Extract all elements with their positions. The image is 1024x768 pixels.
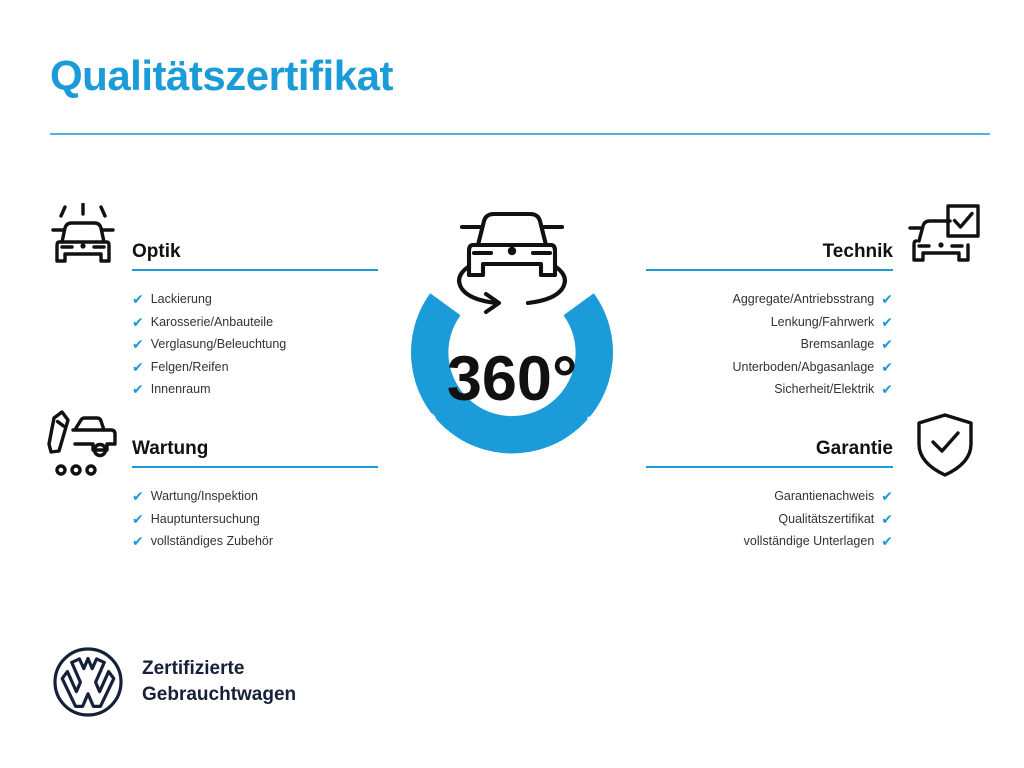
list-item: ✔Lackierung [132,288,378,311]
list-item-label: Karosserie/Anbauteile [151,311,273,334]
check-icon: ✔ [132,337,144,351]
badge-value: 360° [447,344,577,414]
list-item: ✔Innenraum [132,378,378,401]
list-item: ✔Felgen/Reifen [132,356,378,379]
page-title: Qualitätszertifikat [50,52,393,100]
checklist-optik: ✔Lackierung ✔Karosserie/Anbauteile ✔Verg… [132,288,378,401]
list-item-label: Garantienachweis [774,485,874,508]
check-icon: ✔ [132,512,144,526]
check-icon: ✔ [132,382,144,396]
section-divider [646,466,893,468]
check-icon: ✔ [132,534,144,548]
car-rotate-360-icon [459,214,565,312]
check-360-badge: 360° Gebrauchtwagen-Check [372,193,652,503]
section-header: Wartung [132,437,378,471]
list-item-label: Bremsanlage [801,333,875,356]
check-icon: ✔ [132,315,144,329]
check-icon: ✔ [132,489,144,503]
section-title-optik: Optik [132,240,378,264]
check-icon: ✔ [881,534,893,548]
list-item-label: Lackierung [151,288,212,311]
footer-line-2: Gebrauchtwagen [142,682,296,708]
list-item-label: Felgen/Reifen [151,356,229,379]
list-item: ✔Karosserie/Anbauteile [132,311,378,334]
section-optik: Optik ✔Lackierung ✔Karosserie/Anbauteile… [132,240,378,401]
section-title-technik: Technik [646,240,893,264]
list-item: vollständige Unterlagen✔ [646,530,893,553]
footer-text-block: Zertifizierte Gebrauchtwagen [142,656,296,708]
section-wartung: Wartung ✔Wartung/Inspektion ✔Hauptunters… [132,437,378,553]
list-item-label: Verglasung/Beleuchtung [151,333,287,356]
section-divider [132,269,378,271]
section-title-wartung: Wartung [132,437,378,461]
section-garantie: Garantie Garantienachweis✔ Qualitätszert… [646,437,893,553]
list-item: Sicherheit/Elektrik✔ [646,378,893,401]
check-icon: ✔ [881,489,893,503]
section-header: Technik [646,240,893,274]
footer-line-1: Zertifizierte [142,656,296,682]
check-icon: ✔ [881,512,893,526]
list-item-label: Innenraum [151,378,211,401]
list-item: ✔Verglasung/Beleuchtung [132,333,378,356]
list-item-label: Aggregate/Antriebsstrang [733,288,875,311]
section-technik: Technik Aggregate/Antriebsstrang✔ Lenkun… [646,240,893,401]
check-icon: ✔ [881,292,893,306]
check-icon: ✔ [132,360,144,374]
list-item: ✔vollständiges Zubehör [132,530,378,553]
car-shine-icon [45,203,121,273]
certificate-page: Qualitätszertifikat [0,0,1024,768]
shield-check-icon [914,412,976,478]
checklist-garantie: Garantienachweis✔ Qualitätszertifikat✔ v… [646,485,893,553]
car-checkbox-icon [906,203,982,273]
checklist-technik: Aggregate/Antriebsstrang✔ Lenkung/Fahrwe… [646,288,893,401]
list-item-label: Sicherheit/Elektrik [774,378,874,401]
list-item: Qualitätszertifikat✔ [646,508,893,531]
list-item-label: vollständige Unterlagen [744,530,875,553]
list-item-label: Lenkung/Fahrwerk [771,311,875,334]
list-item: Unterboden/Abgasanlage✔ [646,356,893,379]
list-item: Lenkung/Fahrwerk✔ [646,311,893,334]
list-item: Aggregate/Antriebsstrang✔ [646,288,893,311]
section-header: Optik [132,240,378,274]
list-item-label: Hauptuntersuchung [151,508,260,531]
list-item: ✔Wartung/Inspektion [132,485,378,508]
list-item: Bremsanlage✔ [646,333,893,356]
list-item-label: Qualitätszertifikat [778,508,874,531]
list-item-label: Wartung/Inspektion [151,485,258,508]
vw-logo-icon [52,646,124,718]
check-icon: ✔ [881,315,893,329]
section-header: Garantie [646,437,893,471]
list-item-label: vollständiges Zubehör [151,530,273,553]
check-icon: ✔ [132,292,144,306]
check-360-graphic: 360° Gebrauchtwagen-Check [372,193,652,503]
title-divider [50,133,990,135]
section-title-garantie: Garantie [646,437,893,461]
section-divider [132,466,378,468]
list-item-label: Unterboden/Abgasanlage [732,356,874,379]
car-service-tool-icon [45,408,121,478]
check-icon: ✔ [881,360,893,374]
footer-brand: Zertifizierte Gebrauchtwagen [52,646,296,718]
list-item: ✔Hauptuntersuchung [132,508,378,531]
checklist-wartung: ✔Wartung/Inspektion ✔Hauptuntersuchung ✔… [132,485,378,553]
check-icon: ✔ [881,337,893,351]
list-item: Garantienachweis✔ [646,485,893,508]
check-icon: ✔ [881,382,893,396]
section-divider [646,269,893,271]
